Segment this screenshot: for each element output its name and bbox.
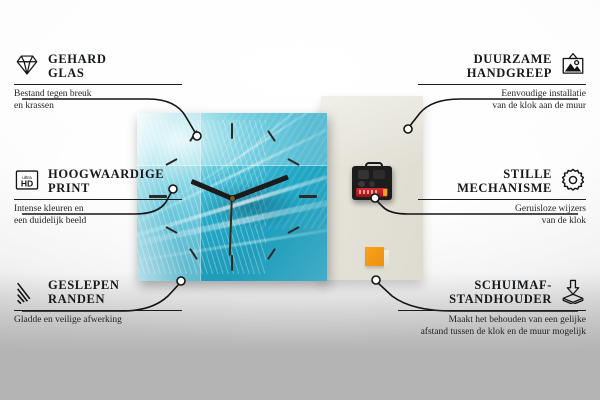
mechanism-body	[352, 166, 392, 200]
feature-desc-line: afstand tussen de klok en de muur mogeli…	[398, 327, 586, 339]
feature-gehard-glas: GEHARD GLAS Bestand tegen breuk en krass…	[14, 52, 182, 112]
feature-header: ultra HD HOOGWAARDIGE PRINT	[14, 167, 182, 195]
feature-desc-line: Geruisloze wijzers	[418, 204, 586, 216]
battery-positive-tip	[383, 189, 387, 196]
mechanism-knob	[369, 181, 375, 187]
feature-desc-line: en krassen	[14, 101, 182, 113]
press-pad-icon	[560, 278, 586, 304]
feature-stille-mechanisme: STILLE MECHANISME Geruisloze wijzers van…	[418, 167, 586, 227]
feature-schuimafstandhouder: SCHUIMAF- STANDHOUDER Maakt het behouden…	[398, 278, 586, 338]
feature-title: HOOGWAARDIGE PRINT	[48, 167, 164, 195]
feature-header: STILLE MECHANISME	[418, 167, 586, 195]
clock-center-hub	[230, 196, 235, 201]
feature-geslepen-randen: GESLEPEN RANDEN Gladde en veilige afwerk…	[14, 278, 182, 327]
battery-label-stripe	[359, 190, 379, 194]
clock-tick	[231, 123, 233, 139]
feature-title: GESLEPEN RANDEN	[48, 278, 120, 306]
foam-spacer-pad	[365, 247, 384, 266]
beveled-edges-icon	[14, 278, 40, 304]
feature-desc-line: Intense kleuren en	[14, 204, 182, 216]
feature-divider	[418, 199, 586, 200]
picture-frame-icon	[560, 52, 586, 78]
feature-divider	[418, 84, 586, 85]
feature-desc-line: Bestand tegen breuk	[14, 89, 182, 101]
feature-title: SCHUIMAF- STANDHOUDER	[449, 278, 552, 306]
feature-desc-line: een duidelijk beeld	[14, 216, 182, 228]
feature-duurzame-handgreep: DUURZAME HANDGREEP Eenvoudige installati…	[418, 52, 586, 112]
feature-desc-line: Eenvoudige installatie	[418, 89, 586, 101]
feature-divider	[14, 310, 182, 311]
feature-header: GESLEPEN RANDEN	[14, 278, 182, 306]
feature-desc-line: Gladde en veilige afwerking	[14, 315, 182, 327]
feature-header: SCHUIMAF- STANDHOUDER	[398, 278, 586, 306]
feature-divider	[14, 199, 182, 200]
feature-desc-line: Maakt het behouden van een gelijke	[398, 315, 586, 327]
svg-text:HD: HD	[21, 179, 33, 189]
diamond-icon	[14, 52, 40, 78]
clock-tick	[299, 195, 317, 198]
feature-header: DUURZAME HANDGREEP	[418, 52, 586, 80]
feature-title: STILLE MECHANISME	[457, 167, 552, 195]
clock-mechanism	[352, 162, 392, 200]
mechanism-knob	[358, 181, 365, 187]
infographic-canvas: GEHARD GLAS Bestand tegen breuk en krass…	[0, 0, 600, 400]
clock-tick	[231, 255, 233, 271]
feature-divider	[14, 84, 182, 85]
feature-title: GEHARD GLAS	[48, 52, 106, 80]
aa-battery	[356, 188, 388, 197]
feature-hoogwaardige-print: ultra HD HOOGWAARDIGE PRINT Intense kleu…	[14, 167, 182, 227]
ultra-hd-icon: ultra HD	[14, 167, 40, 193]
feature-desc-line: van de klok aan de muur	[418, 101, 586, 113]
feature-desc-line: van de klok	[418, 216, 586, 228]
feature-divider	[398, 310, 586, 311]
feature-title: DUURZAME HANDGREEP	[467, 52, 552, 80]
feature-header: GEHARD GLAS	[14, 52, 182, 80]
gear-icon	[560, 167, 586, 193]
